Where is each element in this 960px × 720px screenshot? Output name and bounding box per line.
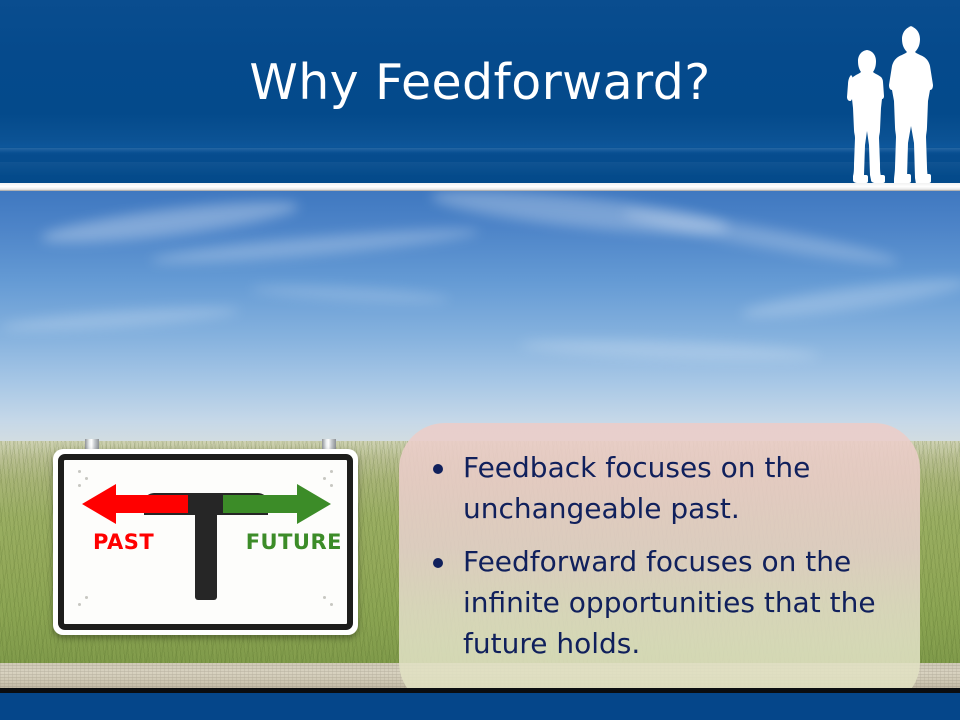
- sign-speck: [78, 603, 81, 606]
- header-sheen: [0, 148, 960, 153]
- sign-speck: [323, 596, 326, 599]
- cloud: [0, 303, 240, 336]
- cloud: [740, 271, 960, 325]
- cloud: [429, 191, 730, 243]
- two-people-silhouette-icon: [828, 14, 952, 186]
- sky-layer: [0, 191, 960, 453]
- slide: Why Feedforward?: [0, 0, 960, 720]
- sign-label-future: FUTURE: [246, 530, 342, 554]
- cloud: [150, 223, 480, 270]
- cloud: [39, 193, 300, 250]
- road-sign: PAST FUTURE: [53, 449, 358, 635]
- sign-speck: [330, 603, 333, 606]
- sign-speck: [85, 477, 88, 480]
- sign-speck: [85, 596, 88, 599]
- cloud: [520, 336, 820, 364]
- left-arrow-icon: [82, 484, 188, 524]
- sign-label-past: PAST: [93, 530, 154, 554]
- sign-speck: [330, 470, 333, 473]
- list-item: Feedback focuses on the unchangeable pas…: [421, 447, 894, 529]
- sign-speck: [78, 484, 81, 487]
- sign-speck: [78, 470, 81, 473]
- page-title: Why Feedforward?: [0, 54, 960, 112]
- cloud: [250, 282, 450, 306]
- t-junction-stem: [195, 493, 217, 600]
- road-sign-board: PAST FUTURE: [58, 454, 353, 630]
- bullet-list: Feedback focuses on the unchangeable pas…: [421, 447, 894, 664]
- cloud: [620, 203, 899, 271]
- right-arrow-icon: [223, 484, 331, 524]
- background-photo: PAST FUTURE Feedback focuses on the unch…: [0, 191, 960, 690]
- header-sheen-secondary: [0, 162, 960, 176]
- footer-bar: [0, 693, 960, 720]
- bullet-text-card: Feedback focuses on the unchangeable pas…: [399, 423, 920, 690]
- list-item: Feedforward focuses on the infinite oppo…: [421, 541, 894, 664]
- sign-speck: [323, 477, 326, 480]
- header-separator: [0, 183, 960, 191]
